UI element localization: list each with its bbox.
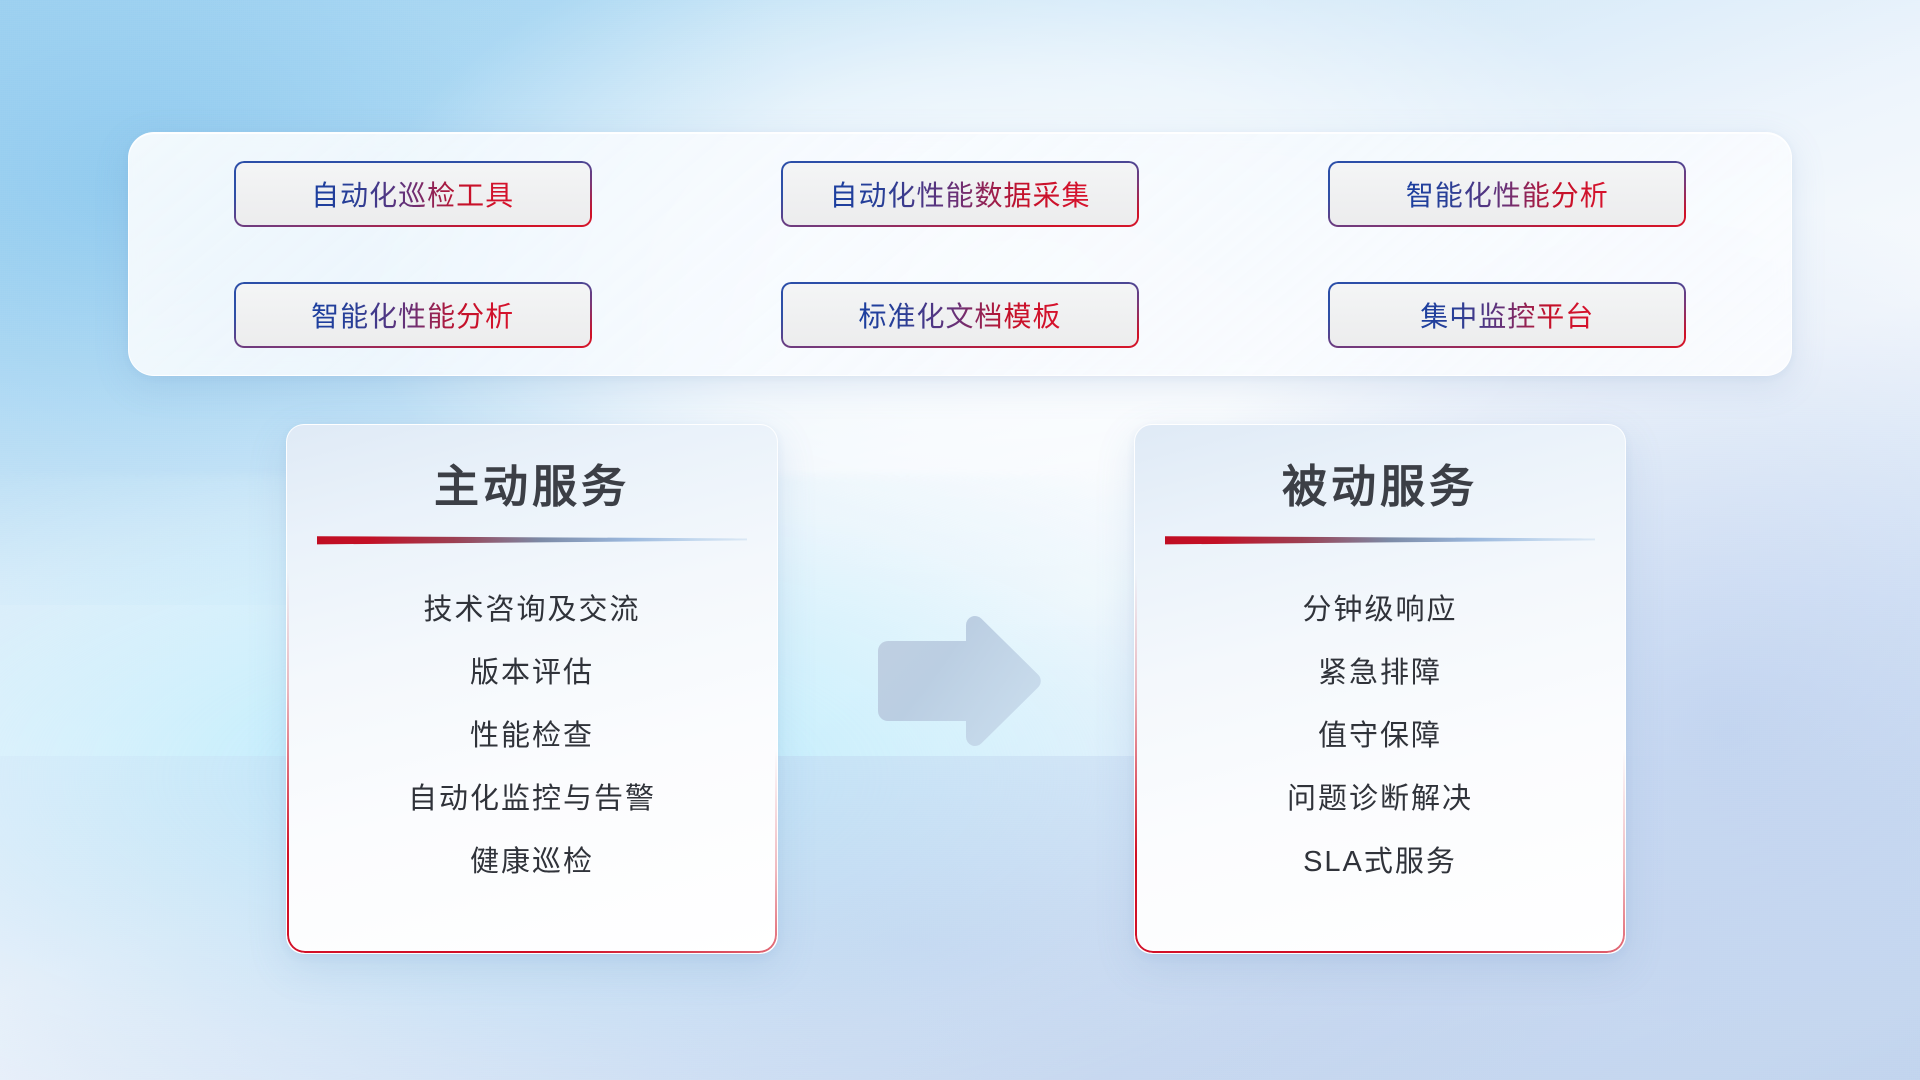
service-item: 健康巡检 bbox=[313, 831, 751, 894]
capability-tag-label: 集中监控平台 bbox=[1420, 295, 1594, 335]
proactive-service-card: 主动服务 技术咨询及交流 版本评估 性能检查 自动化监控与告警 健康巡检 bbox=[286, 424, 778, 954]
reactive-service-card: 被动服务 分钟级响应 紧急排障 值守保障 问题诊断解决 SLA式服务 bbox=[1134, 424, 1626, 954]
arrow-right-icon bbox=[874, 613, 1046, 749]
service-item: 问题诊断解决 bbox=[1161, 768, 1599, 831]
service-item: 技术咨询及交流 bbox=[313, 579, 751, 642]
capability-tag-label: 标准化文档模板 bbox=[858, 295, 1061, 335]
proactive-service-item-list: 技术咨询及交流 版本评估 性能检查 自动化监控与告警 健康巡检 bbox=[313, 545, 751, 894]
capability-tag-auto-inspection-tool[interactable]: 自动化巡检工具 bbox=[234, 161, 592, 227]
card-title: 主动服务 bbox=[313, 461, 751, 513]
capability-tag-centralized-monitoring-platform[interactable]: 集中监控平台 bbox=[1328, 282, 1686, 348]
capability-tag-label: 自动化性能数据采集 bbox=[829, 174, 1090, 214]
card-title: 被动服务 bbox=[1161, 461, 1599, 513]
capability-tag-intelligent-perf-analysis-bottom[interactable]: 智能化性能分析 bbox=[234, 282, 592, 348]
service-item: 值守保障 bbox=[1161, 705, 1599, 768]
service-item: 版本评估 bbox=[313, 642, 751, 705]
card-title-divider bbox=[317, 535, 747, 545]
service-item: 性能检查 bbox=[313, 705, 751, 768]
service-item: 自动化监控与告警 bbox=[313, 768, 751, 831]
capability-tags-panel: 自动化巡检工具 自动化性能数据采集 智能化性能分析 智能化性能分析 标准化文档模… bbox=[128, 132, 1792, 376]
capability-tag-standard-doc-template[interactable]: 标准化文档模板 bbox=[781, 282, 1139, 348]
service-item: 分钟级响应 bbox=[1161, 579, 1599, 642]
card-title-divider bbox=[1165, 535, 1595, 545]
capability-tag-label: 智能化性能分析 bbox=[1406, 174, 1609, 214]
service-item: 紧急排障 bbox=[1161, 642, 1599, 705]
service-item: SLA式服务 bbox=[1161, 831, 1599, 894]
reactive-service-item-list: 分钟级响应 紧急排障 值守保障 问题诊断解决 SLA式服务 bbox=[1161, 545, 1599, 894]
capability-tag-label: 智能化性能分析 bbox=[311, 295, 514, 335]
capability-tag-label: 自动化巡检工具 bbox=[311, 174, 514, 214]
capability-tag-intelligent-perf-analysis-top[interactable]: 智能化性能分析 bbox=[1328, 161, 1686, 227]
capability-tag-auto-perf-data-collection[interactable]: 自动化性能数据采集 bbox=[781, 161, 1139, 227]
